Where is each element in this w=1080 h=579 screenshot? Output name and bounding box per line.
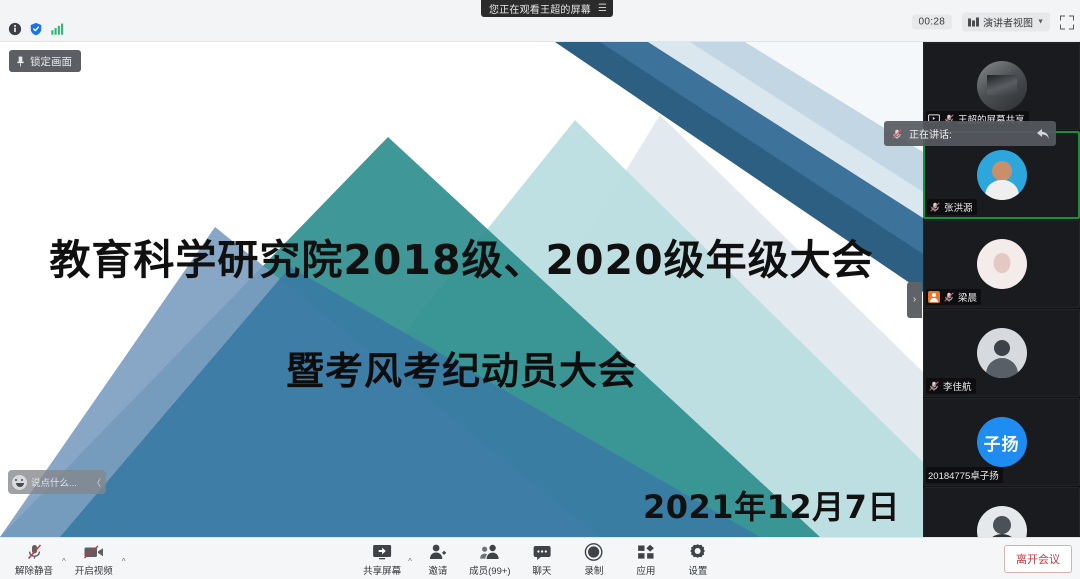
speaking-tooltip-text: 正在讲话:: [909, 126, 1030, 141]
slide-title: 教育科学研究院2018级、2020级年级大会: [0, 238, 923, 283]
avatar: [977, 61, 1027, 111]
view-mode-switch[interactable]: 演讲者视图 ▼: [962, 13, 1050, 32]
rail-collapse-handle[interactable]: ›: [907, 282, 922, 318]
apps-button[interactable]: 应用: [620, 541, 672, 579]
record-icon: [584, 543, 603, 561]
speaking-tooltip: 正在讲话:: [884, 121, 1056, 146]
participant-name: 李佳航: [943, 379, 972, 393]
view-mode-label: 演讲者视图: [983, 15, 1033, 30]
settings-label: 设置: [688, 563, 707, 577]
participant-tile[interactable]: [923, 487, 1080, 537]
view-mode-icon: [968, 18, 979, 27]
avatar-initials: 子扬: [984, 430, 1020, 455]
leave-meeting-button[interactable]: 离开会议: [1004, 545, 1072, 573]
participant-rail[interactable]: 王超的屏幕共享张洪源梁晨李佳航子扬20184775卓子扬: [923, 42, 1080, 537]
emoji-icon[interactable]: [12, 475, 27, 490]
participant-label: 20184775卓子扬: [926, 467, 1003, 483]
invite-button[interactable]: 邀请: [412, 541, 464, 579]
settings-button[interactable]: 设置: [672, 541, 724, 579]
chat-button[interactable]: 聊天: [516, 541, 568, 579]
share-screen-icon: [371, 543, 393, 561]
banner-menu-icon[interactable]: ☰: [598, 4, 607, 14]
mic-options-caret-icon[interactable]: ^: [62, 557, 66, 579]
chat-label: 聊天: [532, 563, 551, 577]
avatar: [977, 150, 1027, 200]
avatar: [977, 239, 1027, 289]
top-left-status-icons: [8, 22, 64, 36]
chevron-right-icon: ›: [913, 295, 916, 305]
pin-icon: [16, 56, 25, 67]
participant-label: 李佳航: [926, 378, 976, 394]
lock-screen-button[interactable]: 锁定画面: [9, 50, 81, 72]
reply-arrow-icon[interactable]: [1036, 128, 1050, 140]
invite-label: 邀请: [428, 563, 447, 577]
participant-name: 梁晨: [958, 290, 977, 304]
network-signal-icon[interactable]: [50, 22, 64, 36]
host-badge-icon: [928, 291, 940, 303]
mic-muted-icon: [26, 543, 43, 561]
participant-name: 20184775卓子扬: [928, 468, 999, 482]
avatar-wrapper: 子扬: [977, 417, 1027, 467]
unmute-button[interactable]: 解除静音: [8, 541, 60, 579]
participants-button[interactable]: 成员(99+): [464, 541, 516, 579]
viewing-screen-banner: 您正在观看王超的屏幕 ☰: [481, 0, 613, 17]
slide-date: 2021年12月7日: [643, 482, 900, 528]
start-video-label: 开启视频: [75, 563, 113, 577]
mini-chat-input[interactable]: 说点什么... 〈: [8, 470, 106, 494]
share-screen-button[interactable]: 共享屏幕: [356, 541, 408, 579]
meeting-window: 您正在观看王超的屏幕 ☰ 00:28 演讲者视图 ▼: [0, 0, 1080, 579]
chat-bubble-icon: [532, 543, 552, 561]
meeting-timer: 00:28: [912, 15, 953, 30]
apps-grid-icon: [636, 543, 656, 561]
info-icon[interactable]: [8, 22, 22, 36]
presentation-slide: 教育科学研究院2018级、2020级年级大会 暨考风考纪动员大会 2021年12…: [0, 42, 923, 537]
avatar: [977, 328, 1027, 378]
mic-muted-icon: [929, 201, 941, 213]
invite-person-icon: [428, 543, 448, 561]
video-options-caret-icon[interactable]: ^: [122, 557, 126, 579]
record-button[interactable]: 录制: [568, 541, 620, 579]
toolbar-center-group: 共享屏幕 ^ 邀请: [356, 541, 724, 579]
avatar-wrapper: [977, 239, 1027, 289]
security-shield-icon[interactable]: [29, 22, 43, 36]
avatar-wrapper: [977, 328, 1027, 378]
participants-label: 成员(99+): [469, 563, 510, 577]
lock-screen-label: 锁定画面: [30, 54, 72, 69]
participant-label: 梁晨: [926, 289, 981, 305]
chevron-down-icon[interactable]: ▼: [1037, 19, 1044, 26]
viewing-banner-text: 您正在观看王超的屏幕: [489, 1, 591, 16]
avatar: 子扬: [977, 417, 1027, 467]
participant-tile[interactable]: 子扬20184775卓子扬: [923, 398, 1080, 486]
participant-tile[interactable]: 王超的屏幕共享: [923, 42, 1080, 130]
mic-muted-icon: [928, 380, 940, 392]
top-bar: 您正在观看王超的屏幕 ☰ 00:28 演讲者视图 ▼: [0, 0, 1080, 42]
bottom-toolbar: 解除静音 ^ 开启视频 ^: [0, 537, 1080, 579]
start-video-button[interactable]: 开启视频: [68, 541, 120, 579]
slide-background-graphics: [0, 42, 923, 537]
chevron-left-icon[interactable]: 〈: [92, 476, 104, 489]
mic-muted-icon: [943, 291, 955, 303]
top-right-controls: 00:28 演讲者视图 ▼: [912, 13, 1074, 32]
avatar: [977, 506, 1027, 537]
mic-muted-icon: [891, 128, 903, 140]
mini-chat-placeholder: 说点什么...: [31, 475, 88, 489]
participant-tile[interactable]: 梁晨: [923, 220, 1080, 308]
video-off-icon: [83, 543, 105, 561]
gear-icon: [688, 543, 707, 561]
avatar-wrapper: [977, 150, 1027, 200]
unmute-label: 解除静音: [15, 563, 53, 577]
fullscreen-icon[interactable]: [1060, 15, 1074, 29]
participant-tile[interactable]: 李佳航: [923, 309, 1080, 397]
share-screen-label: 共享屏幕: [363, 563, 401, 577]
participants-icon: [479, 543, 501, 561]
avatar-wrapper: [977, 61, 1027, 111]
apps-label: 应用: [636, 563, 655, 577]
participant-name: 张洪源: [944, 200, 973, 214]
avatar-wrapper: [977, 506, 1027, 537]
record-label: 录制: [584, 563, 603, 577]
participant-label: 张洪源: [927, 199, 977, 215]
slide-subtitle: 暨考风考纪动员大会: [0, 340, 923, 395]
shared-screen-stage: 教育科学研究院2018级、2020级年级大会 暨考风考纪动员大会 2021年12…: [0, 42, 923, 537]
toolbar-left-group: 解除静音 ^ 开启视频 ^: [8, 541, 126, 579]
